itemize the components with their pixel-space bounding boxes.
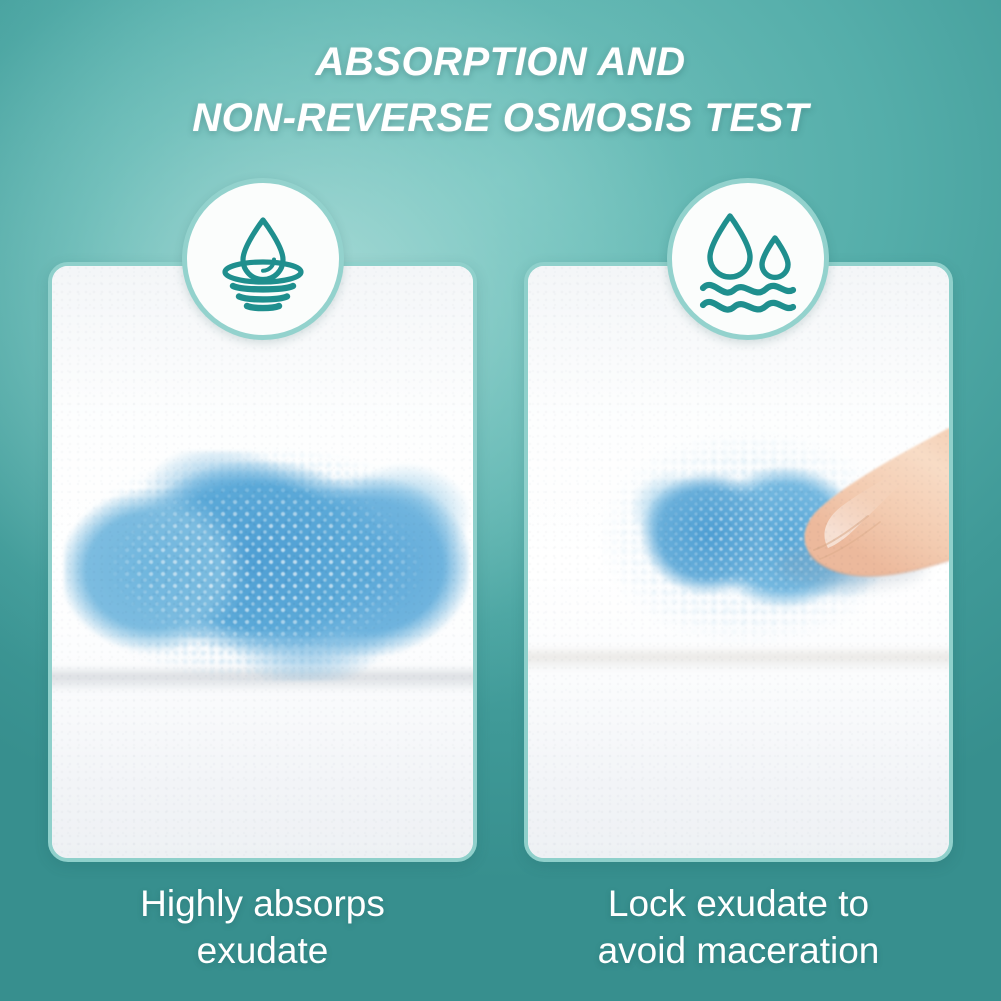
nonwoven-fabric-texture	[52, 266, 473, 858]
non-reverse-osmosis-photo	[528, 266, 949, 858]
icon-badge-absorption	[182, 178, 344, 340]
caption-non-reverse-osmosis-line-1: Lock exudate to	[516, 880, 961, 927]
title-line-2: NON-REVERSE OSMOSIS TEST	[0, 90, 1001, 146]
water-drops-waves-icon	[694, 205, 802, 313]
page-title: ABSORPTION AND NON-REVERSE OSMOSIS TEST	[0, 34, 1001, 146]
infographic-canvas: ABSORPTION AND NON-REVERSE OSMOSIS TEST	[0, 0, 1001, 1001]
photo-card-non-reverse-osmosis	[524, 262, 953, 862]
caption-non-reverse-osmosis-line-2: avoid maceration	[516, 927, 961, 974]
photo-card-absorption	[48, 262, 477, 862]
caption-non-reverse-osmosis: Lock exudate to avoid maceration	[516, 880, 961, 974]
water-drop-ripple-icon	[210, 206, 316, 312]
caption-absorption-line-2: exudate	[40, 927, 485, 974]
caption-absorption: Highly absorps exudate	[40, 880, 485, 974]
caption-absorption-line-1: Highly absorps	[40, 880, 485, 927]
icon-badge-non-reverse-osmosis	[667, 178, 829, 340]
absorption-photo	[52, 266, 473, 858]
title-line-1: ABSORPTION AND	[0, 34, 1001, 90]
nonwoven-fabric-texture	[528, 266, 949, 858]
